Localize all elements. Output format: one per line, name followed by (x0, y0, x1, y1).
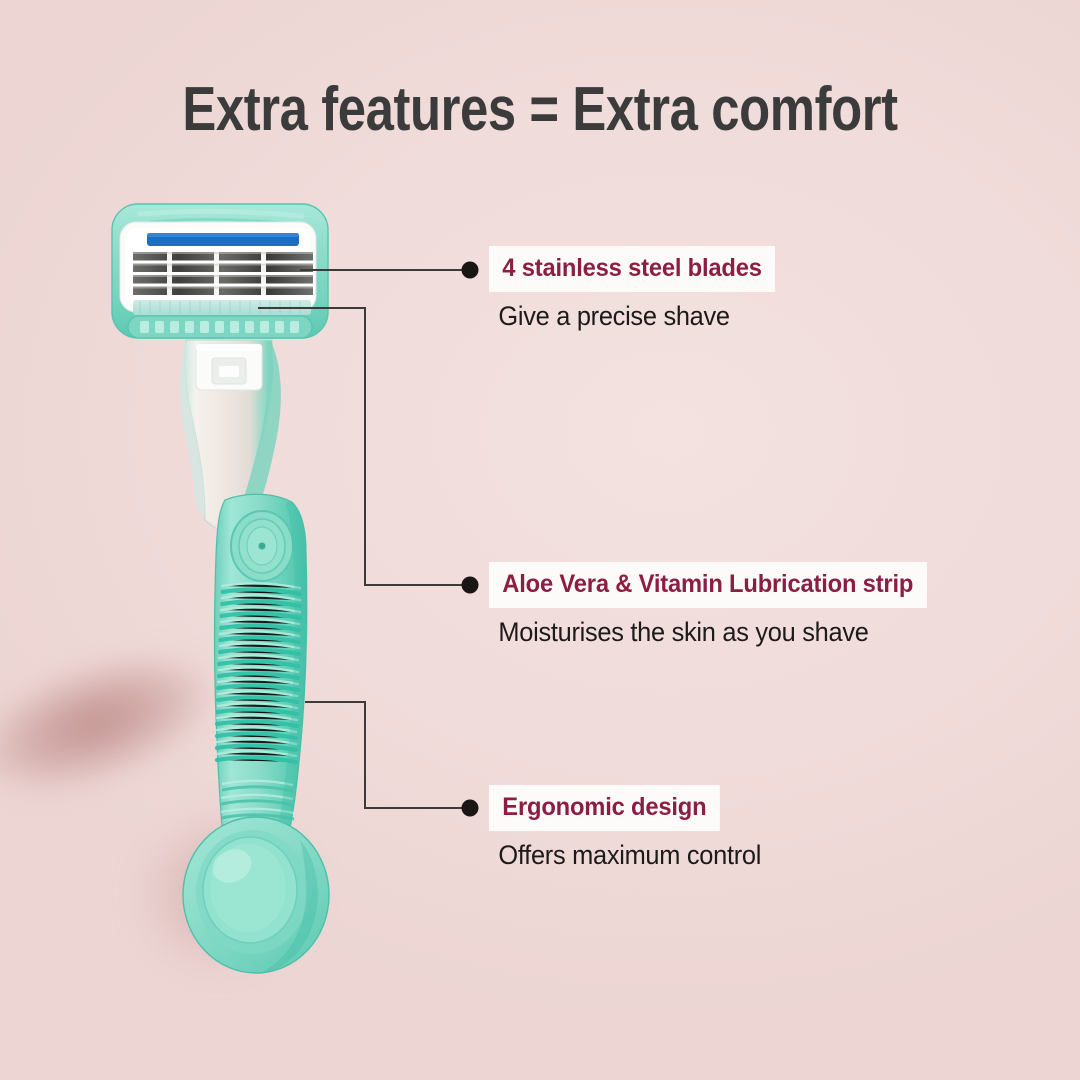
callout-description-blades: Give a precise shave (489, 301, 772, 332)
leader-line-ergonomic (305, 702, 463, 808)
callout-blades[interactable]: 4 stainless steel blades Give a precise … (489, 246, 790, 332)
leader-lines (0, 0, 1080, 1080)
bullet-dot-icon-ergonomic (462, 800, 479, 817)
callout-label-blades: 4 stainless steel blades (489, 246, 775, 292)
callout-description-ergonomic: Offers maximum control (489, 840, 761, 871)
infographic-canvas: Extra features = Extra comfort (0, 0, 1080, 1080)
callout-label-lubrication: Aloe Vera & Vitamin Lubrication strip (489, 562, 927, 608)
callout-description-lubrication: Moisturises the skin as you shave (489, 617, 922, 648)
leader-line-lubrication (258, 308, 463, 585)
bullet-dot-icon-blades (462, 262, 479, 279)
bullet-dot-icon-lubrication (462, 577, 479, 594)
callout-label-ergonomic: Ergonomic design (489, 785, 720, 831)
callout-ergonomic[interactable]: Ergonomic design Offers maximum control (489, 785, 778, 871)
callout-lubrication[interactable]: Aloe Vera & Vitamin Lubrication strip Mo… (489, 562, 950, 648)
